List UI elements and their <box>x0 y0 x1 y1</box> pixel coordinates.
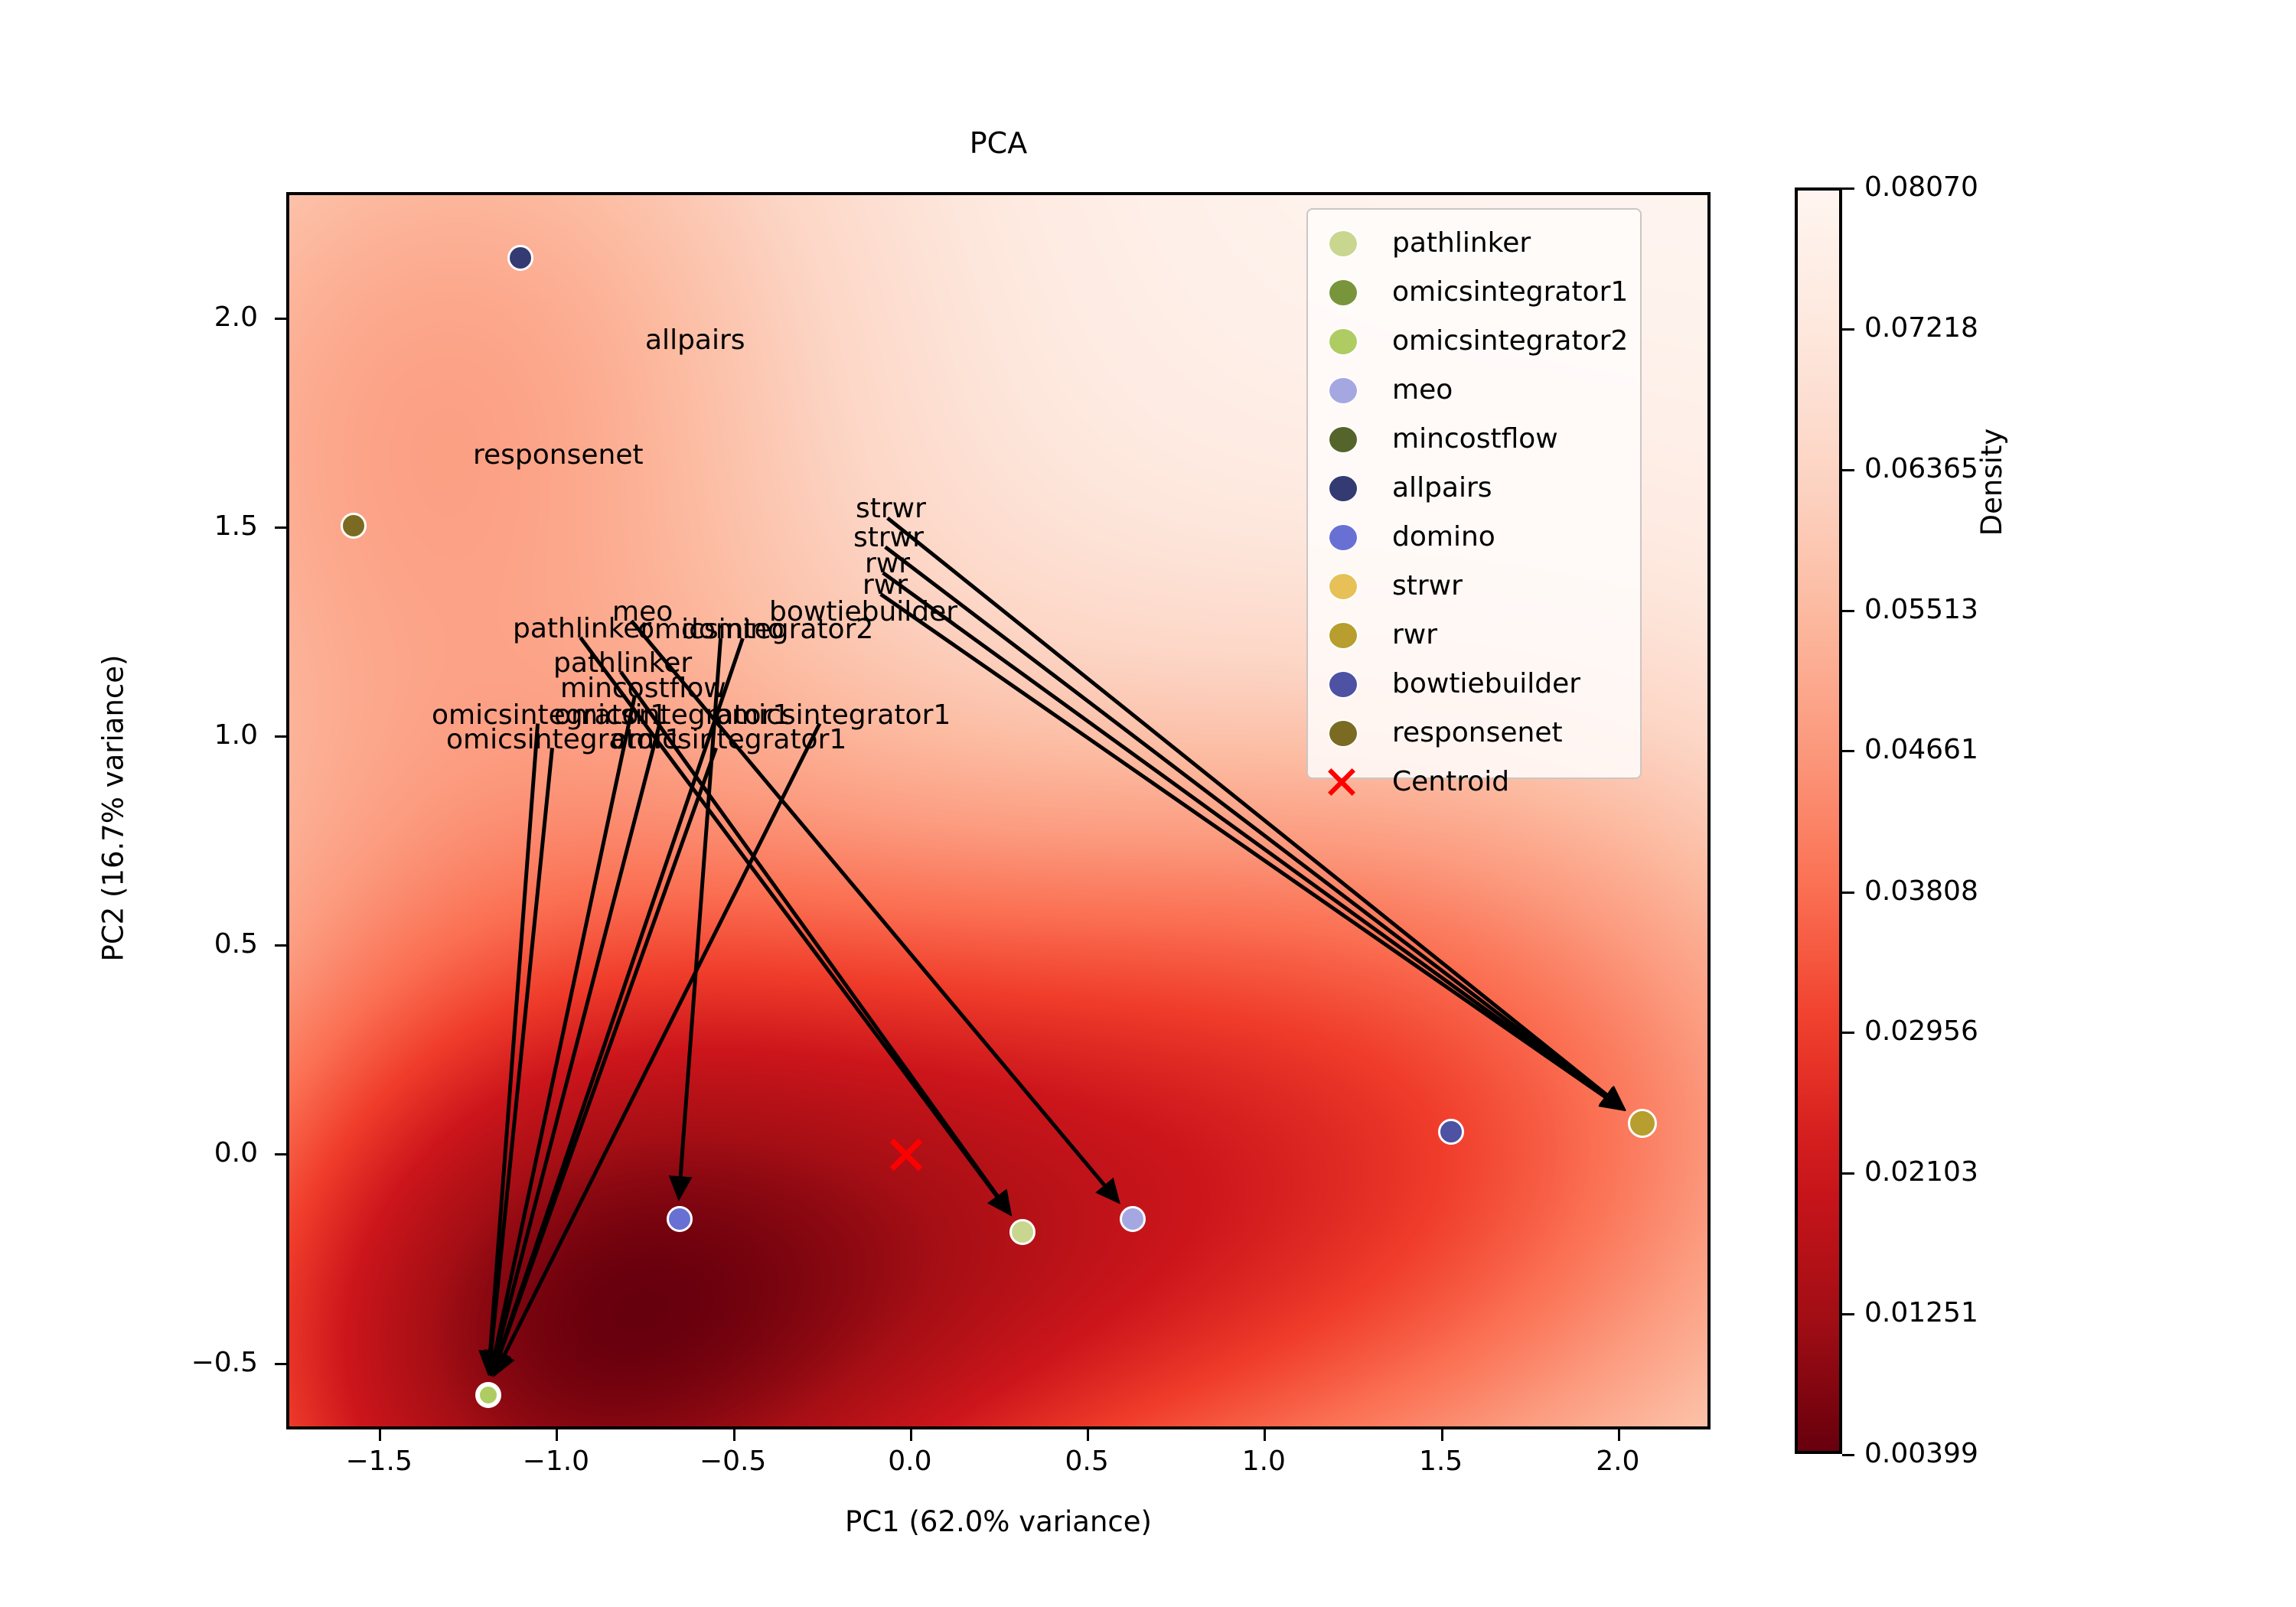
page-title: PCA <box>286 127 1711 159</box>
legend-label: omicsintegrator2 <box>1392 326 1628 357</box>
x-tick-label: −0.5 <box>657 1446 810 1477</box>
colorbar-tick-mark <box>1842 187 1854 190</box>
colorbar[interactable] <box>1795 187 1842 1454</box>
colorbar-tick-label: 0.04661 <box>1864 735 1978 765</box>
colorbar-tick-mark <box>1842 892 1854 894</box>
x-tick-label: 0.5 <box>1010 1446 1163 1477</box>
legend-marker-icon <box>1328 376 1358 405</box>
colorbar-tick-mark <box>1842 1032 1854 1034</box>
legend-item-omicsintegrator1[interactable]: omicsintegrator1 <box>1308 268 1640 317</box>
scatter-point-omicsintegrator2[interactable] <box>478 1384 499 1406</box>
legend-item-mincostflow[interactable]: mincostflow <box>1308 415 1640 464</box>
colorbar-tick-mark <box>1842 1172 1854 1175</box>
y-tick-label: 1.0 <box>28 720 258 751</box>
pca-figure: PCA allpairsresponsenetomicsintegrator2d… <box>0 0 2296 1607</box>
point-label-allpairs: allpairs <box>645 325 745 356</box>
y-axis-label: PC2 (16.7% variance) <box>98 190 130 1427</box>
legend-label: rwr <box>1392 620 1437 650</box>
colorbar-tick-label: 0.00399 <box>1864 1439 1978 1469</box>
legend-label: pathlinker <box>1392 228 1531 259</box>
scatter-point-domino[interactable] <box>667 1206 693 1232</box>
y-tick-mark <box>275 318 286 320</box>
legend-marker-icon <box>1328 572 1358 601</box>
point-label-omicsintegrator1: omicsintegrator1 <box>446 725 682 755</box>
legend-label: omicsintegrator1 <box>1392 277 1628 308</box>
colorbar-tick-mark <box>1842 750 1854 752</box>
legend-item-domino[interactable]: domino <box>1308 513 1640 562</box>
colorbar-tick-label: 0.05513 <box>1864 595 1978 625</box>
legend-item-omicsintegrator2[interactable]: omicsintegrator2 <box>1308 317 1640 366</box>
y-tick-label: 2.0 <box>28 302 258 333</box>
scatter-point-rwr[interactable] <box>1628 1109 1657 1138</box>
colorbar-tick-mark <box>1842 1454 1854 1456</box>
legend-label: domino <box>1392 522 1495 553</box>
scatter-point-allpairs[interactable] <box>507 245 533 271</box>
legend-item-Centroid[interactable]: Centroid <box>1308 758 1640 807</box>
colorbar-tick-label: 0.08070 <box>1864 172 1978 203</box>
y-tick-mark <box>275 735 286 738</box>
x-tick-label: 0.0 <box>833 1446 987 1477</box>
point-label-responsenet: responsenet <box>473 440 644 471</box>
x-tick-mark <box>733 1429 735 1441</box>
legend-marker-icon <box>1328 328 1358 356</box>
y-tick-label: −0.5 <box>28 1348 258 1378</box>
colorbar-gradient <box>1795 187 1842 1454</box>
legend-marker-icon <box>1328 719 1358 748</box>
legend-marker-icon <box>1328 279 1358 307</box>
scatter-point-responsenet[interactable] <box>341 513 367 539</box>
scatter-point-bowtiebuilder[interactable] <box>1438 1119 1464 1145</box>
legend-label: strwr <box>1392 571 1463 601</box>
colorbar-tick-label: 0.01251 <box>1864 1298 1978 1328</box>
colorbar-tick-label: 0.07218 <box>1864 313 1978 344</box>
scatter-point-pathlinker[interactable] <box>1009 1219 1035 1245</box>
legend-item-pathlinker[interactable]: pathlinker <box>1308 219 1640 268</box>
colorbar-tick-label: 0.02103 <box>1864 1157 1978 1188</box>
point-label-strwr: strwr <box>856 494 926 524</box>
x-tick-mark <box>556 1429 558 1441</box>
legend-label: meo <box>1392 375 1453 406</box>
x-tick-mark <box>1264 1429 1266 1441</box>
x-tick-label: 1.5 <box>1365 1446 1518 1477</box>
colorbar-tick-mark <box>1842 328 1854 331</box>
legend-item-bowtiebuilder[interactable]: bowtiebuilder <box>1308 660 1640 709</box>
y-tick-label: 0.0 <box>28 1138 258 1169</box>
legend-marker-icon <box>1328 523 1358 552</box>
colorbar-label: Density <box>1976 329 2008 635</box>
y-tick-mark <box>275 1363 286 1365</box>
legend-item-responsenet[interactable]: responsenet <box>1308 709 1640 758</box>
x-tick-mark <box>1441 1429 1443 1441</box>
y-tick-mark <box>275 526 286 529</box>
x-tick-mark <box>379 1429 381 1441</box>
legend-marker-icon <box>1328 621 1358 650</box>
legend-marker-icon <box>1328 474 1358 503</box>
legend-item-allpairs[interactable]: allpairs <box>1308 464 1640 513</box>
legend-marker-icon <box>1328 230 1358 258</box>
point-label-meo: meo <box>612 597 673 627</box>
colorbar-tick-mark <box>1842 469 1854 471</box>
y-tick-label: 0.5 <box>28 929 258 960</box>
legend-item-meo[interactable]: meo <box>1308 366 1640 415</box>
x-tick-label: −1.5 <box>302 1446 455 1477</box>
colorbar-tick-mark <box>1842 610 1854 612</box>
x-tick-label: 1.0 <box>1187 1446 1340 1477</box>
y-tick-mark <box>275 1153 286 1156</box>
scatter-point-meo[interactable] <box>1120 1206 1146 1232</box>
legend-item-strwr[interactable]: strwr <box>1308 562 1640 611</box>
centroid-marker[interactable] <box>886 1135 926 1178</box>
legend-item-rwr[interactable]: rwr <box>1308 611 1640 660</box>
legend-label: allpairs <box>1392 473 1492 504</box>
colorbar-tick-label: 0.06365 <box>1864 454 1978 484</box>
legend-label: bowtiebuilder <box>1392 669 1580 699</box>
x-tick-mark <box>910 1429 912 1441</box>
x-tick-mark <box>1618 1429 1620 1441</box>
colorbar-tick-label: 0.03808 <box>1864 876 1978 907</box>
legend-label: Centroid <box>1392 767 1509 797</box>
point-label-bowtiebuilder: bowtiebuilder <box>769 597 957 627</box>
colorbar-tick-mark <box>1842 1313 1854 1315</box>
legend-marker-icon <box>1328 670 1358 699</box>
x-tick-mark <box>1087 1429 1089 1441</box>
legend-label: responsenet <box>1392 718 1563 748</box>
x-tick-label: −1.0 <box>479 1446 632 1477</box>
legend-marker-icon <box>1328 425 1358 454</box>
centroid-x-icon <box>1325 765 1358 799</box>
y-tick-mark <box>275 944 286 947</box>
x-axis-label: PC1 (62.0% variance) <box>286 1506 1711 1538</box>
y-tick-label: 1.5 <box>28 511 258 542</box>
legend-label: mincostflow <box>1392 424 1558 455</box>
colorbar-tick-label: 0.02956 <box>1864 1016 1978 1047</box>
legend[interactable]: pathlinkeromicsintegrator1omicsintegrato… <box>1306 208 1642 779</box>
x-tick-label: 2.0 <box>1541 1446 1694 1477</box>
